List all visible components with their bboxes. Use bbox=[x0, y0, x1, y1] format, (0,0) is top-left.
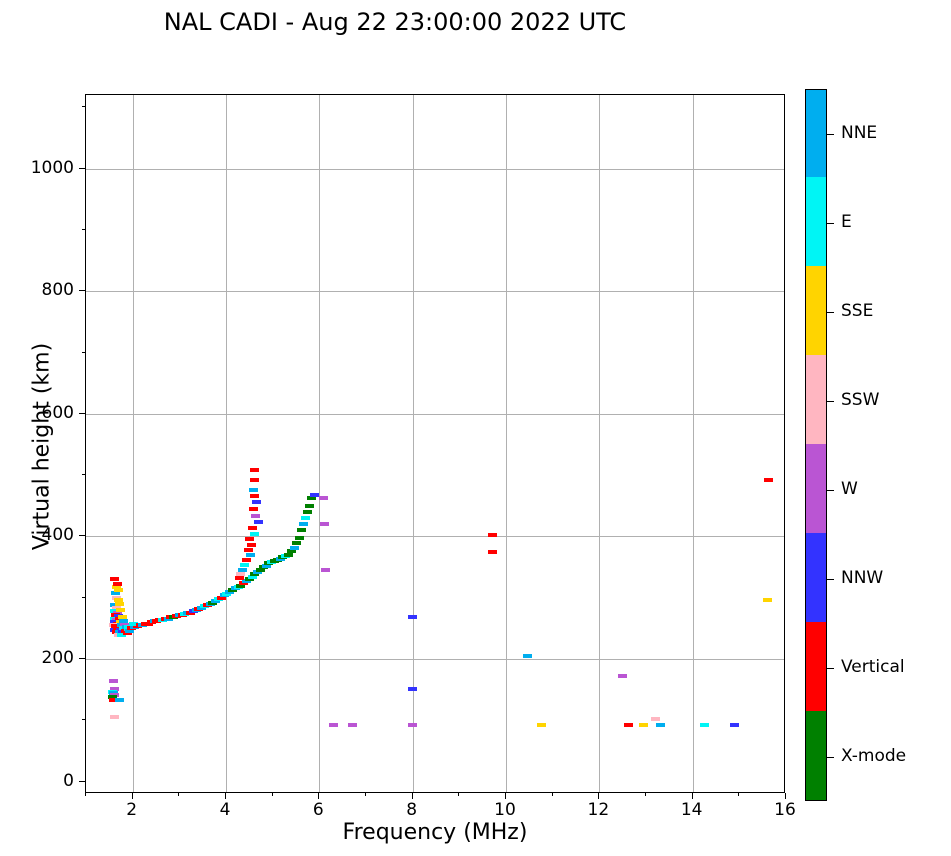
data-point bbox=[305, 504, 314, 508]
data-point bbox=[319, 496, 328, 500]
colorbar-segment-x-mode bbox=[806, 711, 826, 801]
x-tick-minor bbox=[272, 793, 273, 796]
gridline-vertical bbox=[226, 95, 227, 792]
gridline-horizontal bbox=[86, 536, 784, 537]
gridline-horizontal bbox=[86, 291, 784, 292]
x-tick-label: 2 bbox=[102, 800, 162, 820]
colorbar-segment-ssw bbox=[806, 355, 826, 445]
data-point bbox=[537, 723, 546, 727]
data-point bbox=[247, 543, 256, 547]
y-tick bbox=[79, 535, 85, 536]
colorbar-tick bbox=[827, 312, 834, 314]
data-point bbox=[109, 679, 118, 683]
y-tick-minor bbox=[82, 229, 85, 230]
y-tick bbox=[79, 290, 85, 291]
data-point bbox=[730, 723, 739, 727]
x-tick-label: 16 bbox=[755, 800, 815, 820]
gridline-vertical bbox=[319, 95, 320, 792]
x-tick-label: 12 bbox=[568, 800, 628, 820]
data-point bbox=[307, 496, 316, 500]
colorbar bbox=[805, 89, 827, 801]
x-tick bbox=[412, 793, 413, 799]
data-point bbox=[110, 577, 119, 581]
x-tick-minor bbox=[178, 793, 179, 796]
data-point bbox=[284, 553, 293, 557]
data-point bbox=[116, 608, 125, 612]
data-point bbox=[115, 698, 124, 702]
y-tick bbox=[79, 658, 85, 659]
data-point bbox=[287, 549, 296, 553]
colorbar-segment-vertical bbox=[806, 622, 826, 712]
x-tick-minor bbox=[645, 793, 646, 796]
data-point bbox=[618, 674, 627, 678]
gridline-horizontal bbox=[86, 169, 784, 170]
data-point bbox=[297, 528, 306, 532]
colorbar-tick bbox=[827, 223, 834, 225]
x-tick bbox=[318, 793, 319, 799]
y-tick-minor bbox=[82, 106, 85, 107]
gridline-vertical bbox=[693, 95, 694, 792]
data-point bbox=[523, 654, 532, 658]
x-tick-minor bbox=[365, 793, 366, 796]
y-tick-minor bbox=[82, 719, 85, 720]
colorbar-label-nne: NNE bbox=[841, 123, 877, 143]
data-point bbox=[249, 488, 258, 492]
data-point bbox=[295, 536, 304, 540]
data-point bbox=[244, 548, 253, 552]
colorbar-tick bbox=[827, 490, 834, 492]
data-point bbox=[624, 723, 633, 727]
x-tick-minor bbox=[458, 793, 459, 796]
gridline-vertical bbox=[506, 95, 507, 792]
gridline-vertical bbox=[599, 95, 600, 792]
data-point bbox=[303, 510, 312, 514]
colorbar-label-ssw: SSW bbox=[841, 390, 879, 410]
data-point bbox=[651, 717, 660, 721]
data-point bbox=[254, 520, 263, 524]
data-point bbox=[250, 468, 259, 472]
data-point bbox=[246, 553, 255, 557]
colorbar-segment-sse bbox=[806, 266, 826, 356]
colorbar-label-x-mode: X-mode bbox=[841, 746, 906, 766]
ionogram-figure: NAL CADI - Aug 22 23:00:00 2022 UTC 2468… bbox=[0, 0, 951, 856]
gridline-vertical bbox=[133, 95, 134, 792]
data-point bbox=[700, 723, 709, 727]
y-tick-minor bbox=[82, 474, 85, 475]
colorbar-tick bbox=[827, 579, 834, 581]
data-point bbox=[329, 723, 338, 727]
x-tick bbox=[598, 793, 599, 799]
x-tick-label: 14 bbox=[662, 800, 722, 820]
data-point bbox=[408, 615, 417, 619]
y-tick-minor bbox=[82, 597, 85, 598]
data-point bbox=[110, 715, 119, 719]
colorbar-segment-nnw bbox=[806, 533, 826, 623]
colorbar-segment-e bbox=[806, 177, 826, 267]
y-tick bbox=[79, 413, 85, 414]
data-point bbox=[488, 533, 497, 537]
data-point bbox=[320, 522, 329, 526]
data-point bbox=[115, 602, 124, 606]
data-point bbox=[242, 558, 251, 562]
data-point bbox=[248, 526, 257, 530]
data-point bbox=[250, 494, 259, 498]
data-point bbox=[656, 723, 665, 727]
y-tick bbox=[79, 781, 85, 782]
data-point bbox=[245, 537, 254, 541]
y-tick-label: 1000 bbox=[14, 158, 74, 178]
data-point bbox=[299, 522, 308, 526]
x-tick-label: 6 bbox=[288, 800, 348, 820]
colorbar-tick bbox=[827, 757, 834, 759]
x-tick-minor bbox=[738, 793, 739, 796]
colorbar-tick bbox=[827, 668, 834, 670]
data-point bbox=[348, 723, 357, 727]
data-point bbox=[764, 478, 773, 482]
chart-title: NAL CADI - Aug 22 23:00:00 2022 UTC bbox=[0, 8, 790, 36]
x-tick bbox=[785, 793, 786, 799]
data-point bbox=[639, 723, 648, 727]
data-point bbox=[408, 687, 417, 691]
data-point bbox=[290, 546, 299, 550]
y-tick-minor bbox=[82, 352, 85, 353]
x-tick bbox=[505, 793, 506, 799]
data-point bbox=[251, 514, 260, 518]
data-point bbox=[249, 507, 258, 511]
data-point bbox=[235, 576, 244, 580]
colorbar-label-nnw: NNW bbox=[841, 568, 883, 588]
data-point bbox=[292, 541, 301, 545]
data-point bbox=[114, 588, 123, 592]
x-tick bbox=[225, 793, 226, 799]
data-point bbox=[321, 568, 330, 572]
colorbar-label-e: E bbox=[841, 212, 852, 232]
colorbar-tick bbox=[827, 401, 834, 403]
data-point bbox=[252, 500, 261, 504]
colorbar-tick bbox=[827, 134, 834, 136]
plot-area bbox=[85, 94, 785, 793]
y-tick-label: 0 bbox=[14, 771, 74, 791]
colorbar-label-w: W bbox=[841, 479, 858, 499]
colorbar-segment-nne bbox=[806, 89, 826, 178]
data-point bbox=[763, 598, 772, 602]
x-tick-minor bbox=[85, 793, 86, 796]
gridline-horizontal bbox=[86, 414, 784, 415]
x-tick-label: 10 bbox=[475, 800, 535, 820]
data-point bbox=[408, 723, 417, 727]
colorbar-label-vertical: Vertical bbox=[841, 657, 905, 677]
data-point bbox=[488, 550, 497, 554]
data-point bbox=[301, 516, 310, 520]
data-point bbox=[113, 582, 122, 586]
data-point bbox=[240, 563, 249, 567]
gridline-horizontal bbox=[86, 659, 784, 660]
colorbar-label-sse: SSE bbox=[841, 301, 873, 321]
x-tick bbox=[132, 793, 133, 799]
x-tick-label: 4 bbox=[195, 800, 255, 820]
data-point bbox=[250, 532, 259, 536]
x-tick bbox=[692, 793, 693, 799]
x-tick-minor bbox=[552, 793, 553, 796]
colorbar-segment-w bbox=[806, 444, 826, 534]
y-tick bbox=[79, 168, 85, 169]
x-tick-label: 8 bbox=[382, 800, 442, 820]
x-axis-title: Frequency (MHz) bbox=[85, 820, 785, 845]
data-point bbox=[250, 478, 259, 482]
data-point bbox=[238, 568, 247, 572]
y-axis-title: Virtual height (km) bbox=[30, 237, 55, 657]
